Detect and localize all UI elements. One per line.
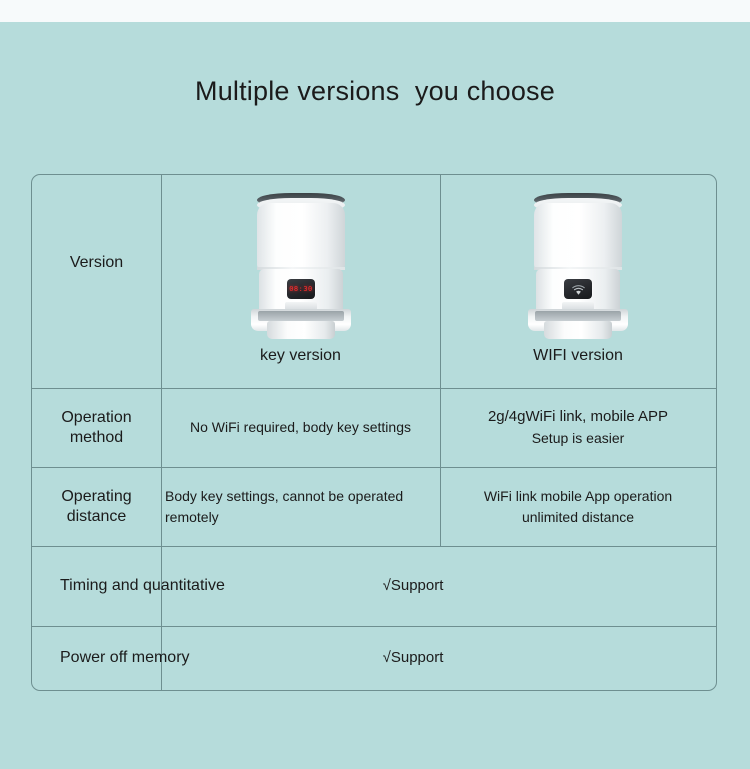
cell-operating-distance-key: Body key settings, cannot be operated re… (161, 467, 440, 546)
product-image-key-version: 08:30 (245, 191, 357, 341)
row-label-line-2: distance (67, 507, 127, 527)
product-image-wifi-version (522, 191, 634, 341)
product-comparison-page: Multiple versions you choose Version 08:… (0, 0, 750, 769)
cell-line-2: unlimited distance (522, 507, 634, 527)
cell-operating-distance-wifi: WiFi link mobile App operation unlimited… (440, 467, 716, 546)
feeder-base (267, 321, 335, 339)
cell-timing-quantitative-support: √Support (348, 546, 478, 626)
cell-line-1: WiFi link mobile App operation (484, 486, 672, 506)
led-display-panel: 08:30 (287, 279, 315, 299)
row-label-power-off-memory: Power off memory (32, 626, 270, 690)
wifi-icon (571, 283, 586, 295)
feeder-hopper (534, 203, 622, 269)
feeder-base (544, 321, 612, 339)
row-label-operating-distance: Operating distance (32, 467, 161, 546)
caption-wifi-version: WIFI version (440, 347, 716, 365)
cell-line-1: 2g/4gWiFi link, mobile APP (488, 406, 668, 428)
row-label-line-1: Operation (61, 408, 131, 428)
cell-operation-method-wifi: 2g/4gWiFi link, mobile APP Setup is easi… (440, 388, 716, 467)
wifi-indicator-panel (564, 279, 592, 299)
feeder-tray-inner (535, 311, 621, 321)
cell-power-off-memory-support: √Support (348, 626, 478, 690)
caption-key-version: key version (161, 347, 440, 365)
cell-line-2: Setup is easier (532, 428, 625, 448)
row-label-version: Version (32, 243, 161, 283)
top-white-strip (0, 0, 750, 22)
row-label-operation-method: Operation method (32, 388, 161, 467)
cell-operation-method-key: No WiFi required, body key settings (161, 388, 440, 467)
comparison-table: Version 08:30 key version (31, 174, 717, 691)
feeder-tray-inner (258, 311, 344, 321)
led-display-digits: 08:30 (289, 285, 313, 293)
feeder-hopper (257, 203, 345, 269)
row-label-line-1: Operating (61, 487, 131, 507)
page-title: Multiple versions you choose (0, 76, 750, 107)
row-label-timing-quantitative: Timing and quantitative (32, 546, 270, 626)
row-label-line-2: method (70, 428, 123, 448)
